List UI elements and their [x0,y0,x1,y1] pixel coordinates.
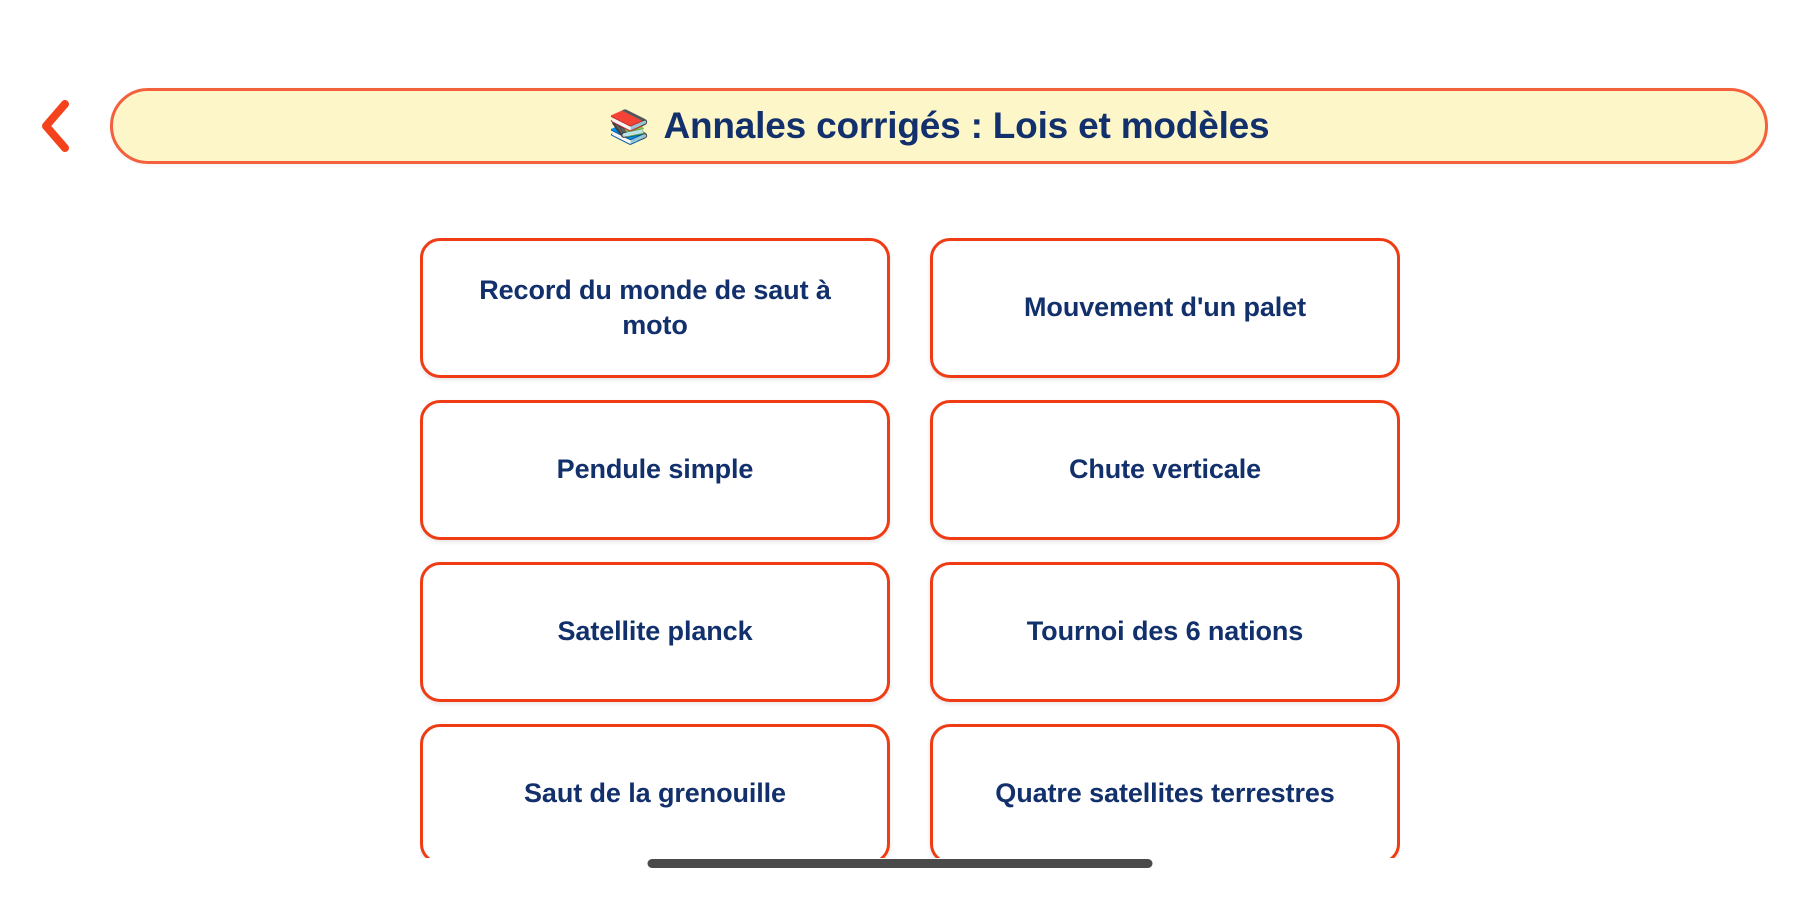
exercise-card-label: Pendule simple [557,452,754,487]
chevron-left-icon [38,98,72,154]
page-header: 📚 Annales corrigés : Lois et modèles [0,88,1800,164]
books-icon: 📚 [609,110,650,143]
exercise-card-label: Chute verticale [1069,452,1261,487]
exercise-card[interactable]: Chute verticale [930,400,1400,540]
exercise-card[interactable]: Satellite planck [420,562,890,702]
exercise-card-label: Tournoi des 6 nations [1027,614,1303,649]
exercise-card-label: Satellite planck [558,614,753,649]
exercise-card[interactable]: Quatre satellites terrestres [930,724,1400,858]
title-banner: 📚 Annales corrigés : Lois et modèles [110,88,1768,164]
page-title-text: Annales corrigés : Lois et modèles [663,105,1269,147]
exercise-card[interactable]: Tournoi des 6 nations [930,562,1400,702]
exercise-card[interactable]: Record du monde de saut à moto [420,238,890,378]
exercise-card-label: Saut de la grenouille [524,776,786,811]
exercise-card-label: Mouvement d'un palet [1024,290,1306,325]
exercise-card[interactable]: Saut de la grenouille [420,724,890,858]
app-root: 📚 Annales corrigés : Lois et modèles Rec… [0,0,1800,900]
exercise-card[interactable]: Pendule simple [420,400,890,540]
exercise-card[interactable]: Mouvement d'un palet [930,238,1400,378]
back-button[interactable] [0,88,110,164]
exercise-card-label: Record du monde de saut à moto [457,273,853,343]
home-indicator[interactable] [648,859,1153,868]
page-title: 📚 Annales corrigés : Lois et modèles [609,105,1270,147]
exercise-card-grid: Record du monde de saut à moto Mouvement… [420,238,1400,858]
exercise-card-label: Quatre satellites terrestres [995,776,1334,811]
